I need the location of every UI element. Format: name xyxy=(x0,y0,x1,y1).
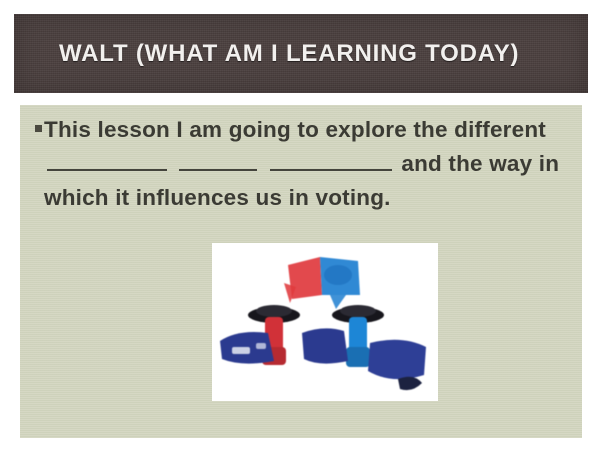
slide-title-bar: WALT (WHAT AM I LEARNING TODAY) xyxy=(14,14,588,93)
fill-in-blank-3 xyxy=(270,151,392,171)
square-bullet-icon xyxy=(35,125,42,132)
bullet-item-text: This lesson I am going to explore the di… xyxy=(44,113,572,215)
slide-image xyxy=(212,243,438,401)
debate-clipart-graphic xyxy=(212,243,438,401)
bullet-text-segment-1: This lesson I am going to explore the di… xyxy=(44,117,546,142)
page-title: WALT (WHAT AM I LEARNING TODAY) xyxy=(59,14,568,93)
bullet-list-item: This lesson I am going to explore the di… xyxy=(35,113,572,215)
presentation-slide: WALT (WHAT AM I LEARNING TODAY) This les… xyxy=(0,0,600,450)
fill-in-blank-2 xyxy=(179,151,257,171)
slide-body-panel: This lesson I am going to explore the di… xyxy=(20,105,582,438)
fill-in-blank-1 xyxy=(47,151,167,171)
